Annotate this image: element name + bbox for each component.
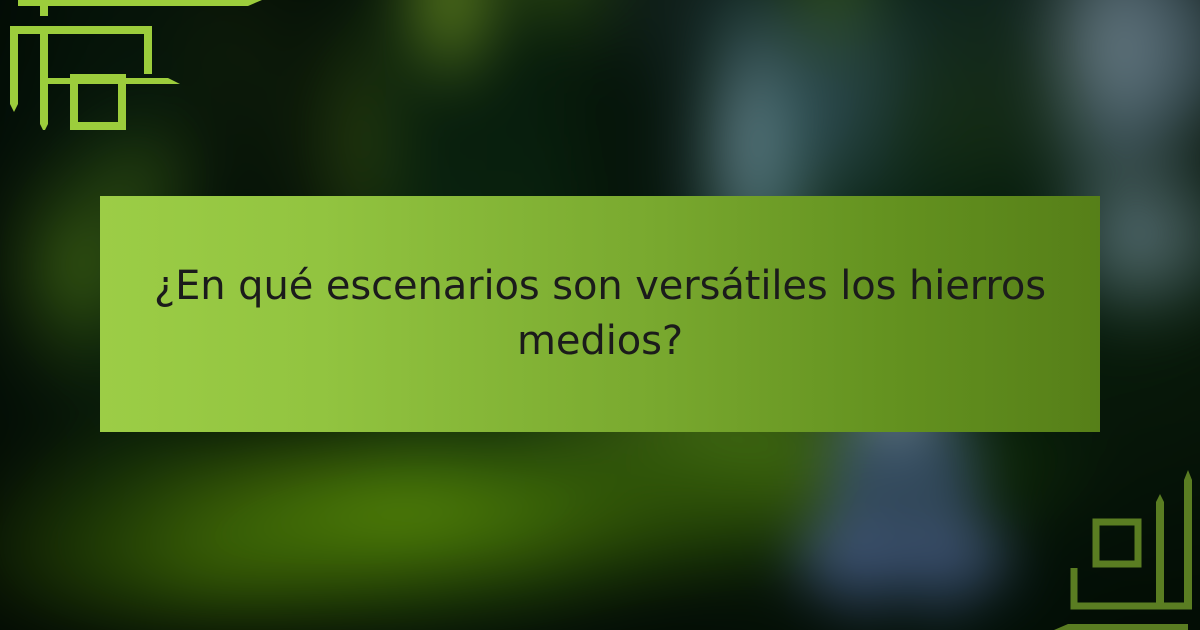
question-line-1: ¿En qué escenarios son versátiles los hi… bbox=[154, 263, 1046, 309]
corner-bracket-bottom-right-icon bbox=[1000, 445, 1200, 630]
image-canvas: ¿En qué escenarios son versátiles los hi… bbox=[0, 0, 1200, 630]
corner-bracket-top-left-icon bbox=[0, 0, 270, 130]
question-line-2: medios? bbox=[517, 318, 683, 364]
question-text: ¿En qué escenarios son versátiles los hi… bbox=[146, 259, 1054, 369]
question-banner: ¿En qué escenarios son versátiles los hi… bbox=[100, 196, 1100, 432]
